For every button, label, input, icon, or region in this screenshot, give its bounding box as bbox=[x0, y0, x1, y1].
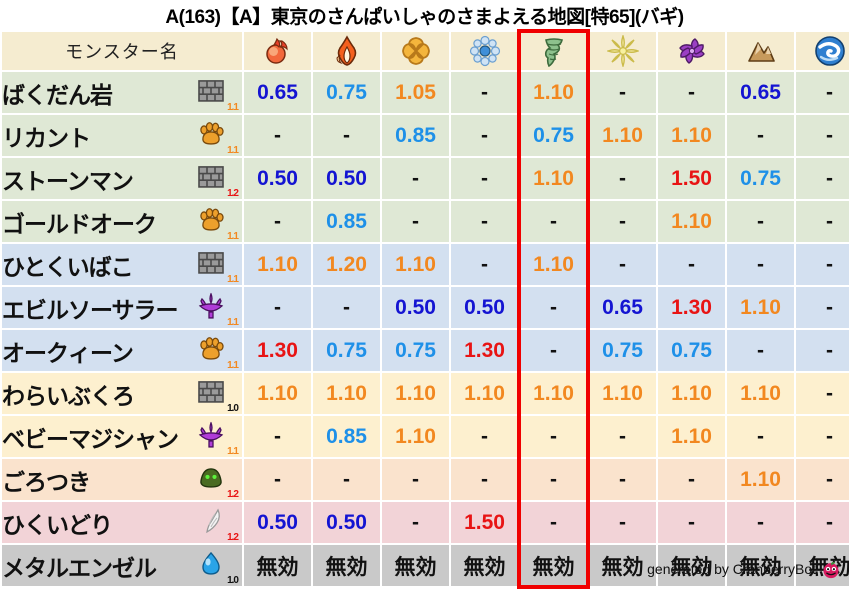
resistance-cell: 1.10 bbox=[520, 373, 587, 414]
version-label: 1.1 bbox=[227, 361, 238, 371]
immune-cell: 無効 bbox=[244, 545, 311, 586]
resistance-cell: 1.10 bbox=[658, 201, 725, 242]
resistance-cell: - bbox=[796, 158, 849, 199]
resistance-cell: - bbox=[589, 244, 656, 285]
monster-name-cell[interactable]: わらいぶくろ1.0 bbox=[2, 373, 242, 414]
resistance-cell: 0.75 bbox=[658, 330, 725, 371]
resistance-cell: - bbox=[451, 158, 518, 199]
resistance-cell: - bbox=[796, 72, 849, 113]
resistance-cell: 1.30 bbox=[658, 287, 725, 328]
monster-name-cell[interactable]: リカント1.1 bbox=[2, 115, 242, 156]
resistance-cell: - bbox=[727, 201, 794, 242]
resistance-cell: 0.50 bbox=[244, 502, 311, 543]
monster-name-label: ゴールドオーク bbox=[2, 205, 156, 239]
resistance-cell: - bbox=[796, 287, 849, 328]
resistance-cell: - bbox=[796, 502, 849, 543]
resistance-cell: - bbox=[589, 416, 656, 457]
resistance-cell: 1.30 bbox=[451, 330, 518, 371]
resistance-cell: 1.10 bbox=[727, 287, 794, 328]
resistance-cell: - bbox=[244, 416, 311, 457]
paw-icon bbox=[198, 206, 224, 232]
version-label: 1.1 bbox=[227, 146, 238, 156]
fireball-icon bbox=[262, 35, 294, 67]
immune-cell: 無効 bbox=[451, 545, 518, 586]
table-header-row: モンスター名 bbox=[2, 32, 849, 70]
table-body: ばくだん岩1.10.650.751.05-1.10--0.65-リカント1.1-… bbox=[2, 72, 849, 586]
ion-icon bbox=[400, 35, 432, 67]
resistance-cell: - bbox=[658, 244, 725, 285]
resistance-cell: - bbox=[727, 416, 794, 457]
resistance-cell: 0.75 bbox=[520, 115, 587, 156]
element-header-dorma[interactable] bbox=[658, 32, 725, 70]
resistance-cell: - bbox=[244, 115, 311, 156]
paw-icon bbox=[198, 335, 224, 361]
monster-name-cell[interactable]: メタルエンゼル1.0 bbox=[2, 545, 242, 586]
cranberry-icon bbox=[821, 559, 841, 579]
resistance-cell: - bbox=[520, 502, 587, 543]
flame-icon bbox=[331, 35, 363, 67]
monster-name-cell[interactable]: ゴールドオーク1.1 bbox=[2, 201, 242, 242]
resistance-cell: 0.65 bbox=[727, 72, 794, 113]
slime-icon bbox=[198, 464, 224, 490]
resistance-cell: 1.20 bbox=[313, 244, 380, 285]
table-row: わらいぶくろ1.01.101.101.101.101.101.101.101.1… bbox=[2, 373, 849, 414]
version-label: 1.2 bbox=[227, 533, 238, 543]
resistance-cell: - bbox=[796, 244, 849, 285]
resistance-cell: - bbox=[589, 502, 656, 543]
trident-icon bbox=[198, 292, 224, 318]
page-title: A(163)【A】東京のさんぱいしゃのさまよえる地図[特65](バギ) bbox=[0, 0, 849, 30]
footer: generated by CranberryBot bbox=[647, 559, 841, 579]
resistance-cell: - bbox=[658, 502, 725, 543]
resistance-cell: - bbox=[451, 416, 518, 457]
wing-icon bbox=[198, 507, 224, 533]
element-header-bagi[interactable] bbox=[520, 32, 587, 70]
resistance-cell: - bbox=[796, 330, 849, 371]
monster-name-label: オークィーン bbox=[2, 334, 133, 368]
resistance-cell: 1.10 bbox=[451, 373, 518, 414]
table-row: ゴールドオーク1.1-0.85----1.10-- bbox=[2, 201, 849, 242]
element-header-hyado[interactable] bbox=[451, 32, 518, 70]
resistance-cell: 1.10 bbox=[658, 115, 725, 156]
resistance-cell: 1.10 bbox=[520, 244, 587, 285]
monster-name-label: エビルソーサラー bbox=[2, 291, 178, 325]
table-row: リカント1.1--0.85-0.751.101.10-- bbox=[2, 115, 849, 156]
element-header-gira[interactable] bbox=[313, 32, 380, 70]
brick-icon bbox=[198, 249, 224, 275]
version-label: 1.0 bbox=[227, 404, 238, 414]
resistance-cell: - bbox=[520, 201, 587, 242]
monster-name-label: ばくだん岩 bbox=[2, 76, 112, 110]
droplet-icon bbox=[198, 550, 224, 576]
version-label: 1.1 bbox=[227, 103, 238, 113]
resistance-cell: - bbox=[382, 502, 449, 543]
resistance-cell: 1.10 bbox=[313, 373, 380, 414]
resistance-cell: - bbox=[451, 244, 518, 285]
resistance-cell: - bbox=[658, 72, 725, 113]
resistance-cell: 0.50 bbox=[313, 502, 380, 543]
resistance-cell: 0.85 bbox=[382, 115, 449, 156]
resistance-cell: 1.10 bbox=[244, 373, 311, 414]
resistance-cell: - bbox=[313, 459, 380, 500]
resistance-cell: 0.50 bbox=[244, 158, 311, 199]
table-row: ばくだん岩1.10.650.751.05-1.10--0.65- bbox=[2, 72, 849, 113]
resistance-cell: - bbox=[796, 459, 849, 500]
resistance-cell: - bbox=[382, 459, 449, 500]
monster-name-cell[interactable]: ベビーマジシャン1.1 bbox=[2, 416, 242, 457]
resistance-cell: - bbox=[589, 72, 656, 113]
resistance-cell: - bbox=[796, 373, 849, 414]
resistance-cell: - bbox=[244, 201, 311, 242]
version-label: 1.1 bbox=[227, 232, 238, 242]
element-header-jiba[interactable] bbox=[727, 32, 794, 70]
resistance-cell: 1.05 bbox=[382, 72, 449, 113]
resistance-cell: 0.75 bbox=[313, 72, 380, 113]
resistance-cell: 1.10 bbox=[727, 459, 794, 500]
monster-name-cell[interactable]: ストーンマン1.2 bbox=[2, 158, 242, 199]
monster-name-label: ひくいどり bbox=[2, 506, 112, 540]
resistance-cell: 1.10 bbox=[244, 244, 311, 285]
monster-name-header: モンスター名 bbox=[2, 32, 242, 70]
resistance-cell: 1.30 bbox=[244, 330, 311, 371]
monster-name-label: ベビーマジシャン bbox=[2, 420, 178, 454]
resistance-cell: - bbox=[796, 115, 849, 156]
resistance-cell: 0.75 bbox=[382, 330, 449, 371]
table-row: オークィーン1.11.300.750.751.30-0.750.75-- bbox=[2, 330, 849, 371]
brick-icon bbox=[198, 77, 224, 103]
immune-cell: 無効 bbox=[520, 545, 587, 586]
resistance-cell: 0.50 bbox=[451, 287, 518, 328]
pinwheel-icon bbox=[676, 35, 708, 67]
resistance-cell: 1.10 bbox=[382, 373, 449, 414]
element-header-ion[interactable] bbox=[382, 32, 449, 70]
version-label: 1.1 bbox=[227, 275, 238, 285]
resistance-cell: 0.85 bbox=[313, 201, 380, 242]
resistance-cell: - bbox=[727, 502, 794, 543]
resistance-cell: - bbox=[520, 459, 587, 500]
resistance-cell: - bbox=[589, 459, 656, 500]
resistance-cell: - bbox=[244, 459, 311, 500]
resistance-cell: 1.10 bbox=[520, 72, 587, 113]
table-row: ストーンマン1.20.500.50--1.10-1.500.75- bbox=[2, 158, 849, 199]
resistance-table: モンスター名 ばくだん岩1.10.650.751.05-1.10--0.65-リ… bbox=[0, 30, 849, 588]
version-label: 1.1 bbox=[227, 447, 238, 457]
version-label: 1.2 bbox=[227, 490, 238, 500]
resistance-cell: - bbox=[451, 459, 518, 500]
resistance-cell: - bbox=[520, 416, 587, 457]
tornado-icon bbox=[538, 35, 570, 67]
snowflake-icon bbox=[469, 35, 501, 67]
resistance-cell: - bbox=[313, 287, 380, 328]
immune-cell: 無効 bbox=[382, 545, 449, 586]
resistance-cell: 0.75 bbox=[589, 330, 656, 371]
table-row: ひとくいばこ1.11.101.201.10-1.10---- bbox=[2, 244, 849, 285]
resistance-cell: - bbox=[796, 416, 849, 457]
brick-icon bbox=[198, 378, 224, 404]
resistance-cell: 1.10 bbox=[727, 373, 794, 414]
resistance-cell: 0.65 bbox=[244, 72, 311, 113]
resistance-cell: 1.10 bbox=[658, 373, 725, 414]
resistance-cell: 1.50 bbox=[658, 158, 725, 199]
resistance-cell: 1.50 bbox=[451, 502, 518, 543]
trident-icon bbox=[198, 421, 224, 447]
immune-cell: 無効 bbox=[589, 545, 656, 586]
resistance-cell: - bbox=[589, 201, 656, 242]
mountain-icon bbox=[745, 35, 777, 67]
resistance-cell: 1.10 bbox=[658, 416, 725, 457]
monster-name-label: ストーンマン bbox=[2, 162, 133, 196]
resistance-cell: - bbox=[520, 287, 587, 328]
resistance-cell: - bbox=[727, 115, 794, 156]
resistance-cell: - bbox=[451, 115, 518, 156]
monster-name-cell[interactable]: エビルソーサラー1.1 bbox=[2, 287, 242, 328]
resistance-cell: - bbox=[244, 287, 311, 328]
monster-name-label: わらいぶくろ bbox=[2, 377, 134, 411]
version-label: 1.1 bbox=[227, 318, 238, 328]
resistance-cell: 1.10 bbox=[589, 373, 656, 414]
resistance-cell: - bbox=[382, 158, 449, 199]
paw-icon bbox=[198, 120, 224, 146]
resistance-cell: - bbox=[520, 330, 587, 371]
monster-name-label: メタルエンゼル bbox=[2, 549, 156, 583]
monster-name-label: ごろつき bbox=[2, 463, 90, 497]
monster-name-cell[interactable]: ひくいどり1.2 bbox=[2, 502, 242, 543]
monster-name-cell[interactable]: ひとくいばこ1.1 bbox=[2, 244, 242, 285]
starburst-icon bbox=[607, 35, 639, 67]
monster-name-label: リカント bbox=[2, 119, 90, 153]
element-header-merazoma[interactable] bbox=[796, 32, 849, 70]
monster-name-cell[interactable]: ばくだん岩1.1 bbox=[2, 72, 242, 113]
table-row: ひくいどり1.20.500.50-1.50----- bbox=[2, 502, 849, 543]
monster-name-cell[interactable]: オークィーン1.1 bbox=[2, 330, 242, 371]
resistance-cell: 0.75 bbox=[727, 158, 794, 199]
resistance-cell: - bbox=[451, 72, 518, 113]
resistance-cell: - bbox=[727, 330, 794, 371]
element-header-mera[interactable] bbox=[244, 32, 311, 70]
table-row: ごろつき1.2-------1.10- bbox=[2, 459, 849, 500]
table-row: ベビーマジシャン1.1-0.851.10---1.10-- bbox=[2, 416, 849, 457]
resistance-cell: 1.10 bbox=[382, 244, 449, 285]
resistance-cell: 0.75 bbox=[313, 330, 380, 371]
brick-icon bbox=[198, 163, 224, 189]
table-row: エビルソーサラー1.1--0.500.50-0.651.301.10- bbox=[2, 287, 849, 328]
element-header-dein[interactable] bbox=[589, 32, 656, 70]
resistance-cell: - bbox=[796, 201, 849, 242]
resistance-table-wrapper: モンスター名 ばくだん岩1.10.650.751.05-1.10--0.65-リ… bbox=[0, 30, 849, 588]
resistance-cell: 1.10 bbox=[382, 416, 449, 457]
resistance-cell: 0.50 bbox=[382, 287, 449, 328]
table-head: モンスター名 bbox=[2, 32, 849, 70]
monster-name-cell[interactable]: ごろつき1.2 bbox=[2, 459, 242, 500]
resistance-cell: - bbox=[727, 244, 794, 285]
monster-name-label: ひとくいばこ bbox=[2, 248, 133, 282]
version-label: 1.2 bbox=[227, 189, 238, 199]
resistance-cell: 0.50 bbox=[313, 158, 380, 199]
immune-cell: 無効 bbox=[313, 545, 380, 586]
resistance-cell: 0.85 bbox=[313, 416, 380, 457]
resistance-cell: - bbox=[313, 115, 380, 156]
resistance-cell: 0.65 bbox=[589, 287, 656, 328]
resistance-cell: 1.10 bbox=[589, 115, 656, 156]
resistance-cell: - bbox=[589, 158, 656, 199]
resistance-cell: - bbox=[451, 201, 518, 242]
version-label: 1.0 bbox=[227, 576, 238, 586]
resistance-cell: - bbox=[658, 459, 725, 500]
resistance-cell: - bbox=[382, 201, 449, 242]
resistance-cell: 1.10 bbox=[520, 158, 587, 199]
footer-text: generated by CranberryBot bbox=[647, 561, 816, 577]
wave-icon bbox=[814, 35, 846, 67]
